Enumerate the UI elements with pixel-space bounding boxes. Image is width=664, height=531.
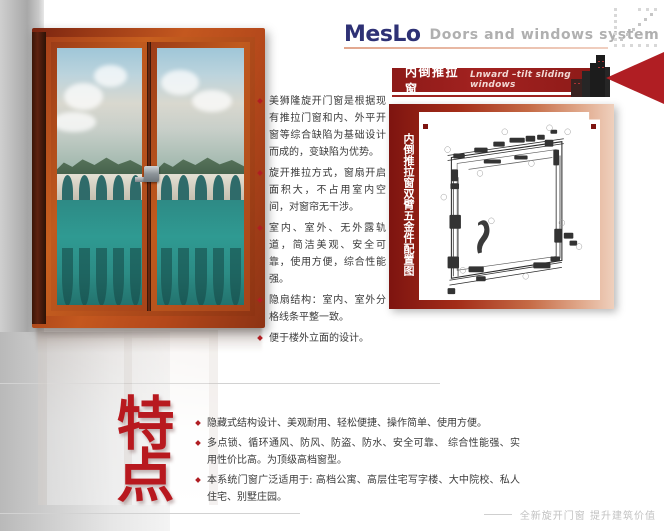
window-handle-icon bbox=[144, 166, 159, 182]
section-title-cn: 内倒推拉窗 bbox=[405, 63, 460, 97]
hardware-exploded-drawing bbox=[419, 112, 600, 300]
feature-heading-calligraphy: 特点 bbox=[92, 398, 197, 503]
window-glass-left bbox=[57, 48, 142, 305]
footer: 全新旋开门窗 提升建筑价值 bbox=[484, 507, 656, 522]
product-window-photo bbox=[32, 28, 265, 328]
section-title-underline bbox=[392, 95, 599, 97]
list-item: 室内、室外、无外露轨道，简洁美观、安全可靠，使用方便，综合性能强。 bbox=[258, 220, 386, 288]
footer-rule bbox=[484, 514, 512, 515]
feature-bullet-list: 隐藏式结构设计、美观耐用、轻松便捷、操作简单、使用方便。 多点锁、循环通风、防风… bbox=[196, 415, 520, 509]
section-title-bar: 内倒推拉窗 Lnward –tilt sliding windows bbox=[392, 68, 592, 92]
diagram-corner-notch-left bbox=[423, 124, 428, 129]
brochure-page: MesLoDoors and windows system 内倒推拉窗 Lnwa… bbox=[0, 0, 664, 531]
list-item: 美狮隆旋开门窗是根据现有推拉门窗和内、外平开窗等综合缺陷为基础设计而成的，变缺陷… bbox=[258, 93, 386, 161]
list-item: 隐扇结构：室内、室外分格线条平整一致。 bbox=[258, 292, 386, 326]
list-item: 便于楼外立面的设计。 bbox=[258, 330, 386, 347]
window-sash-right bbox=[151, 42, 250, 311]
hardware-diagram-panel: 内倒推拉窗双臂五金件配置图 bbox=[389, 104, 614, 309]
brand-name: MesLo bbox=[344, 22, 421, 47]
brand-underline bbox=[344, 47, 608, 49]
left-arrow-icon bbox=[606, 52, 664, 104]
window-glass-right bbox=[157, 48, 244, 305]
window-sash-left bbox=[51, 42, 148, 311]
brand-logo: MesLoDoors and windows system bbox=[344, 22, 659, 47]
diagram-vertical-label: 内倒推拉窗双臂五金件配置图 bbox=[395, 114, 415, 294]
footer-slogan: 全新旋开门窗 提升建筑价值 bbox=[520, 507, 656, 522]
list-item: 旋开推拉方式，窗扇开启面积大，不占用室内空间，对窗帘无干涉。 bbox=[258, 165, 386, 216]
diagram-corner-notch-right bbox=[591, 124, 596, 129]
window-floor-shadow bbox=[36, 326, 262, 352]
city-skyline-icon bbox=[571, 55, 611, 97]
list-item: 本系统门窗广泛适用于: 高档公寓、高层住宅写字楼、大中院校、私人住宅、别墅庄园。 bbox=[196, 472, 520, 506]
diagram-canvas bbox=[419, 112, 600, 300]
product-bullet-list: 美狮隆旋开门窗是根据现有推拉门窗和内、外平开窗等综合缺陷为基础设计而成的，变缺陷… bbox=[258, 93, 386, 351]
list-item: 隐藏式结构设计、美观耐用、轻松便捷、操作简单、使用方便。 bbox=[196, 415, 520, 432]
list-item: 多点锁、循环通风、防风、防盗、防水、安全可靠、 综合性能强、实用性价比高。为顶级… bbox=[196, 435, 520, 469]
hairline-lower bbox=[0, 513, 300, 514]
dot-grid-decoration-icon bbox=[614, 8, 660, 50]
